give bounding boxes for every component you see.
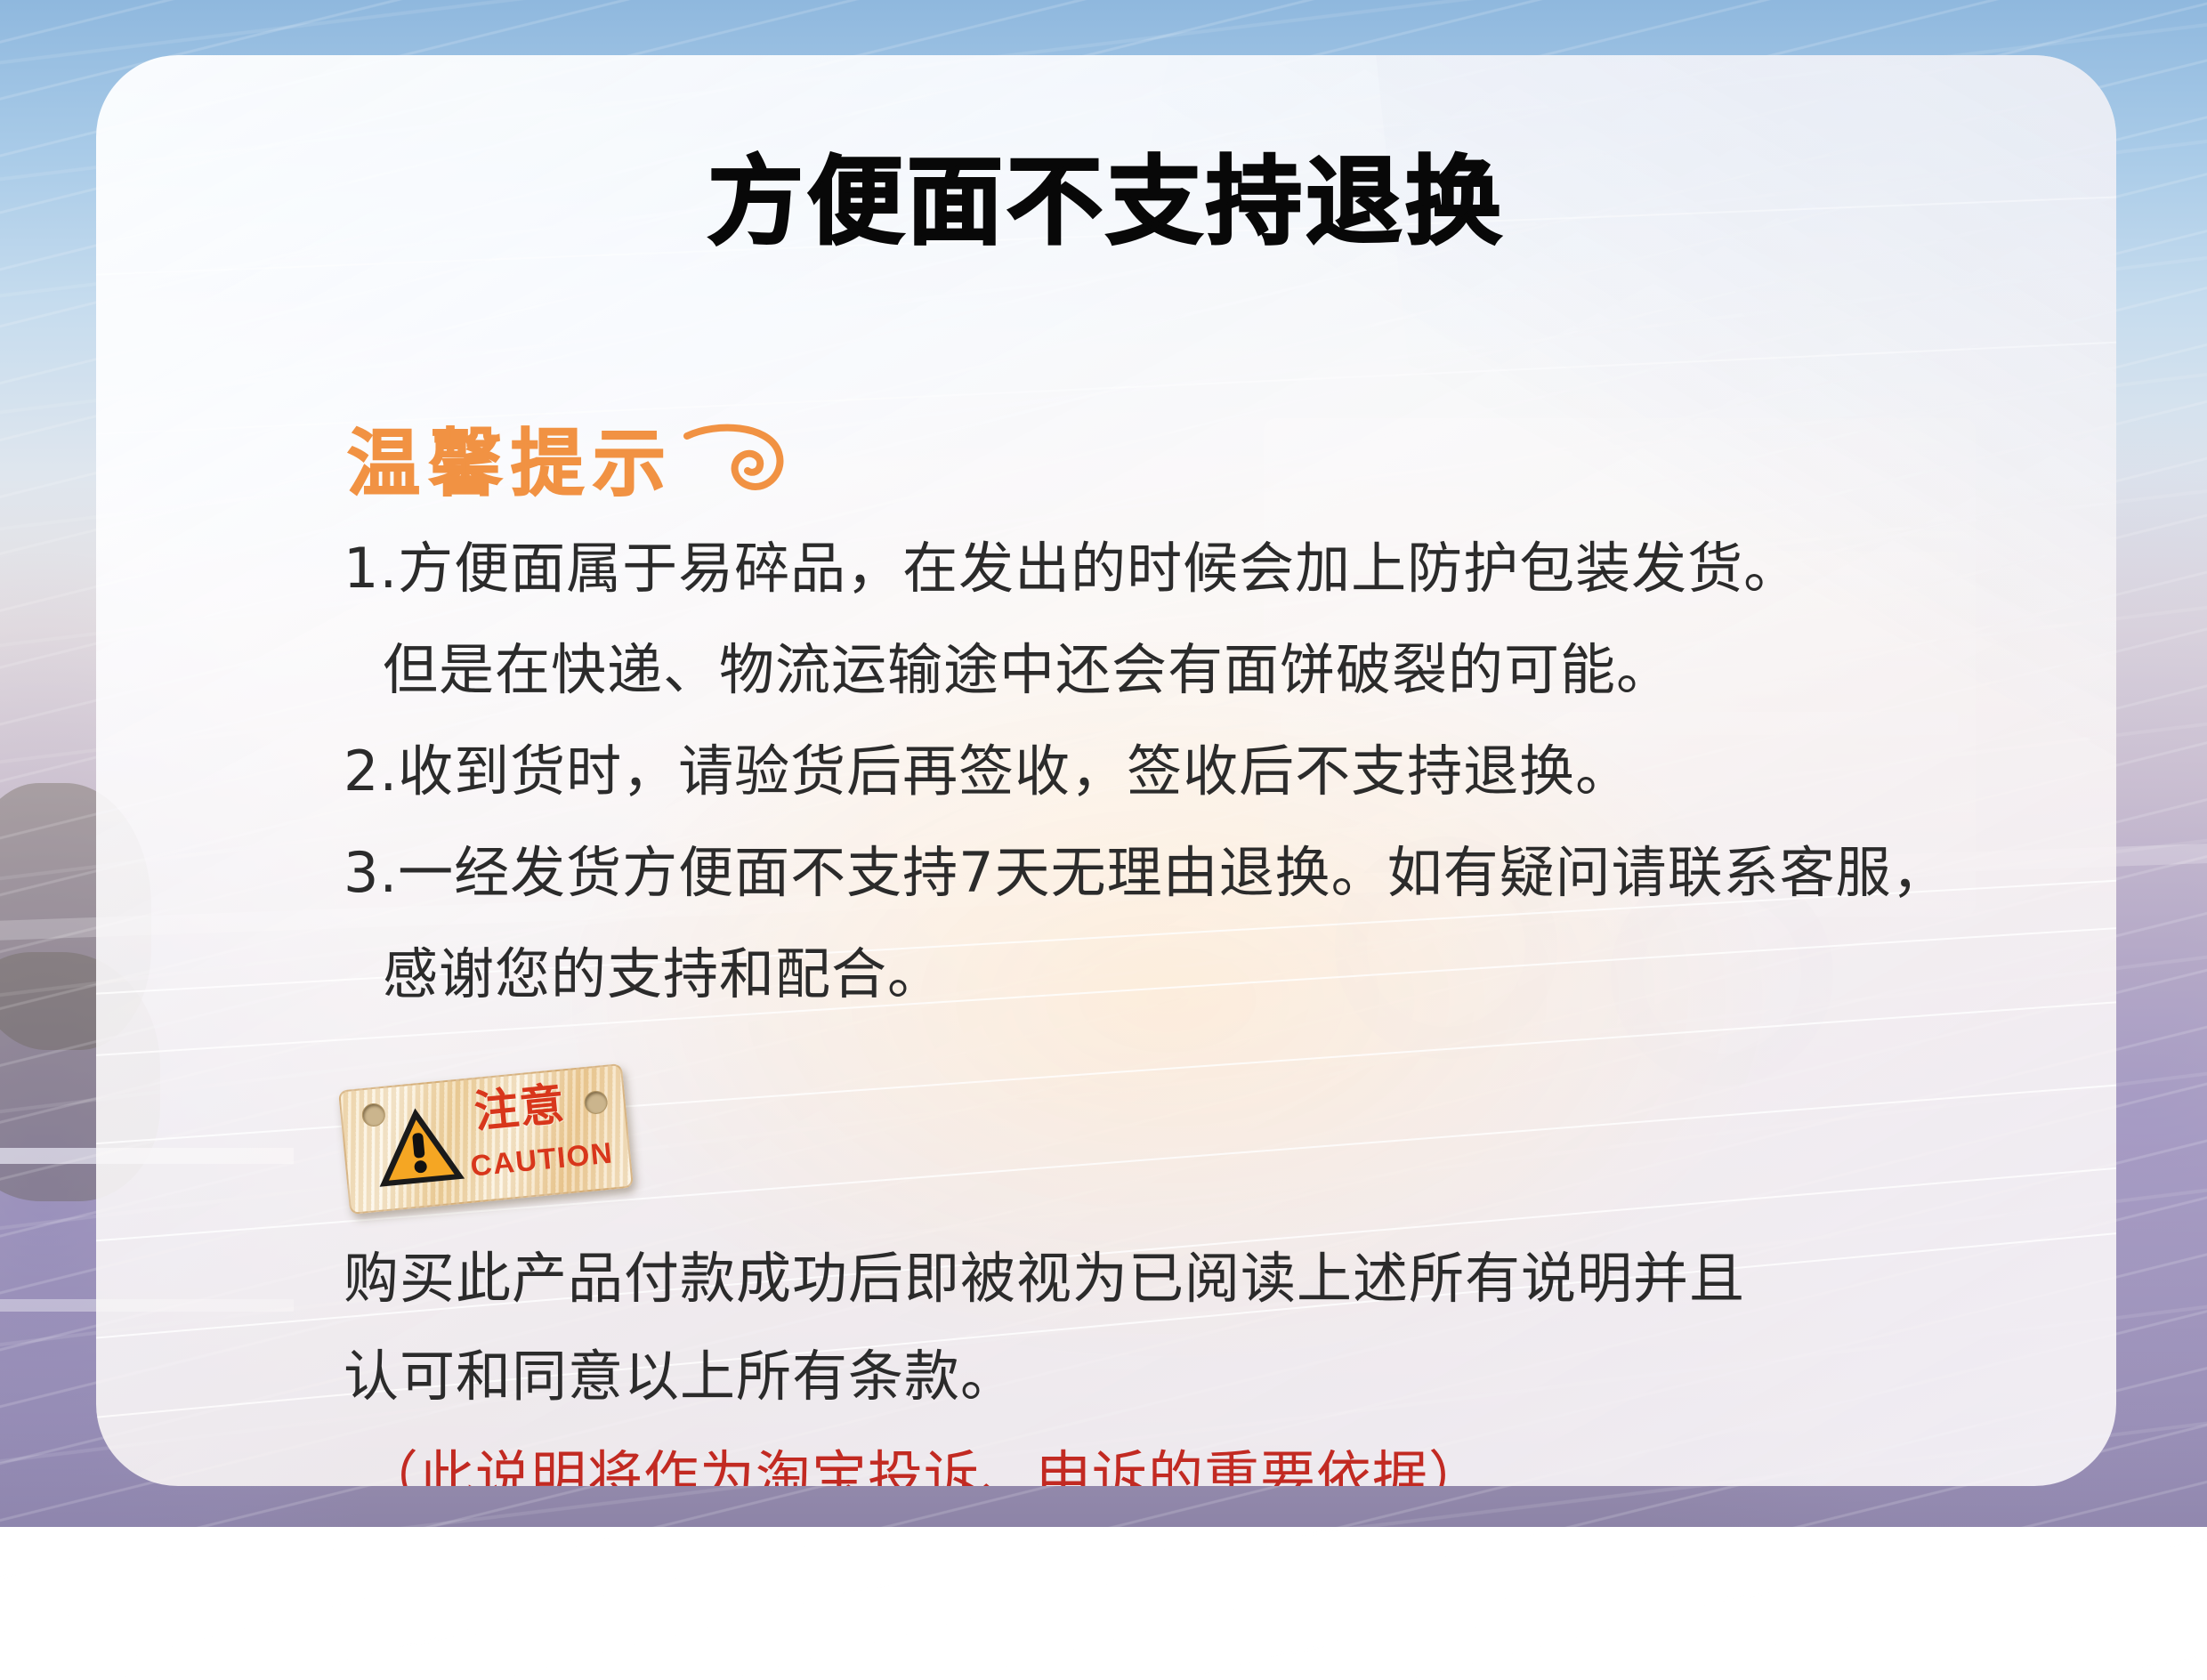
tips-list: 1.方便面属于易碎品，在发出的时候会加上防护包装发货。 但是在快递、物流运输途中… xyxy=(344,518,2106,1025)
swirl-flourish-icon xyxy=(682,409,788,506)
list-item: 3.一经发货方便面不支持7天无理由退换。如有疑问请联系客服， xyxy=(344,822,2106,924)
warning-triangle-icon xyxy=(368,1101,469,1193)
closing-paragraph: 购买此产品付款成功后即被视为已阅读上述所有说明并且 认可和同意以上所有条款。 xyxy=(344,1230,2116,1426)
caution-label-zh: 注意 xyxy=(473,1081,567,1135)
caution-plate: 注意 CAUTION xyxy=(338,1063,634,1215)
list-item: 1.方便面属于易碎品，在发出的时候会加上防护包装发货。 xyxy=(344,518,2106,619)
plate-screw-hole xyxy=(583,1090,608,1115)
list-item-continuation: 但是在快递、物流运输途中还会有面饼破裂的可能。 xyxy=(344,619,2106,721)
red-disclaimer-note: （此说明将作为淘宝投诉、申诉的重要依据） xyxy=(363,1433,1484,1486)
caution-label-en: CAUTION xyxy=(469,1137,614,1180)
list-item-continuation: 感谢您的支持和配合。 xyxy=(344,924,2106,1025)
tips-heading: 温馨提示 xyxy=(347,409,788,501)
closing-line: 认可和同意以上所有条款。 xyxy=(344,1328,2116,1426)
page-title: 方便面不支持退换 xyxy=(96,125,2116,263)
notice-card: 方便面不支持退换 温馨提示 1.方便面属于易碎品，在发出的时候会加上防护包装发货… xyxy=(96,55,2116,1486)
closing-line: 购买此产品付款成功后即被视为已阅读上述所有说明并且 xyxy=(344,1230,2116,1328)
list-item: 2.收到货时，请验货后再签收，签收后不支持退换。 xyxy=(344,721,2106,822)
tips-heading-label: 温馨提示 xyxy=(347,428,675,501)
